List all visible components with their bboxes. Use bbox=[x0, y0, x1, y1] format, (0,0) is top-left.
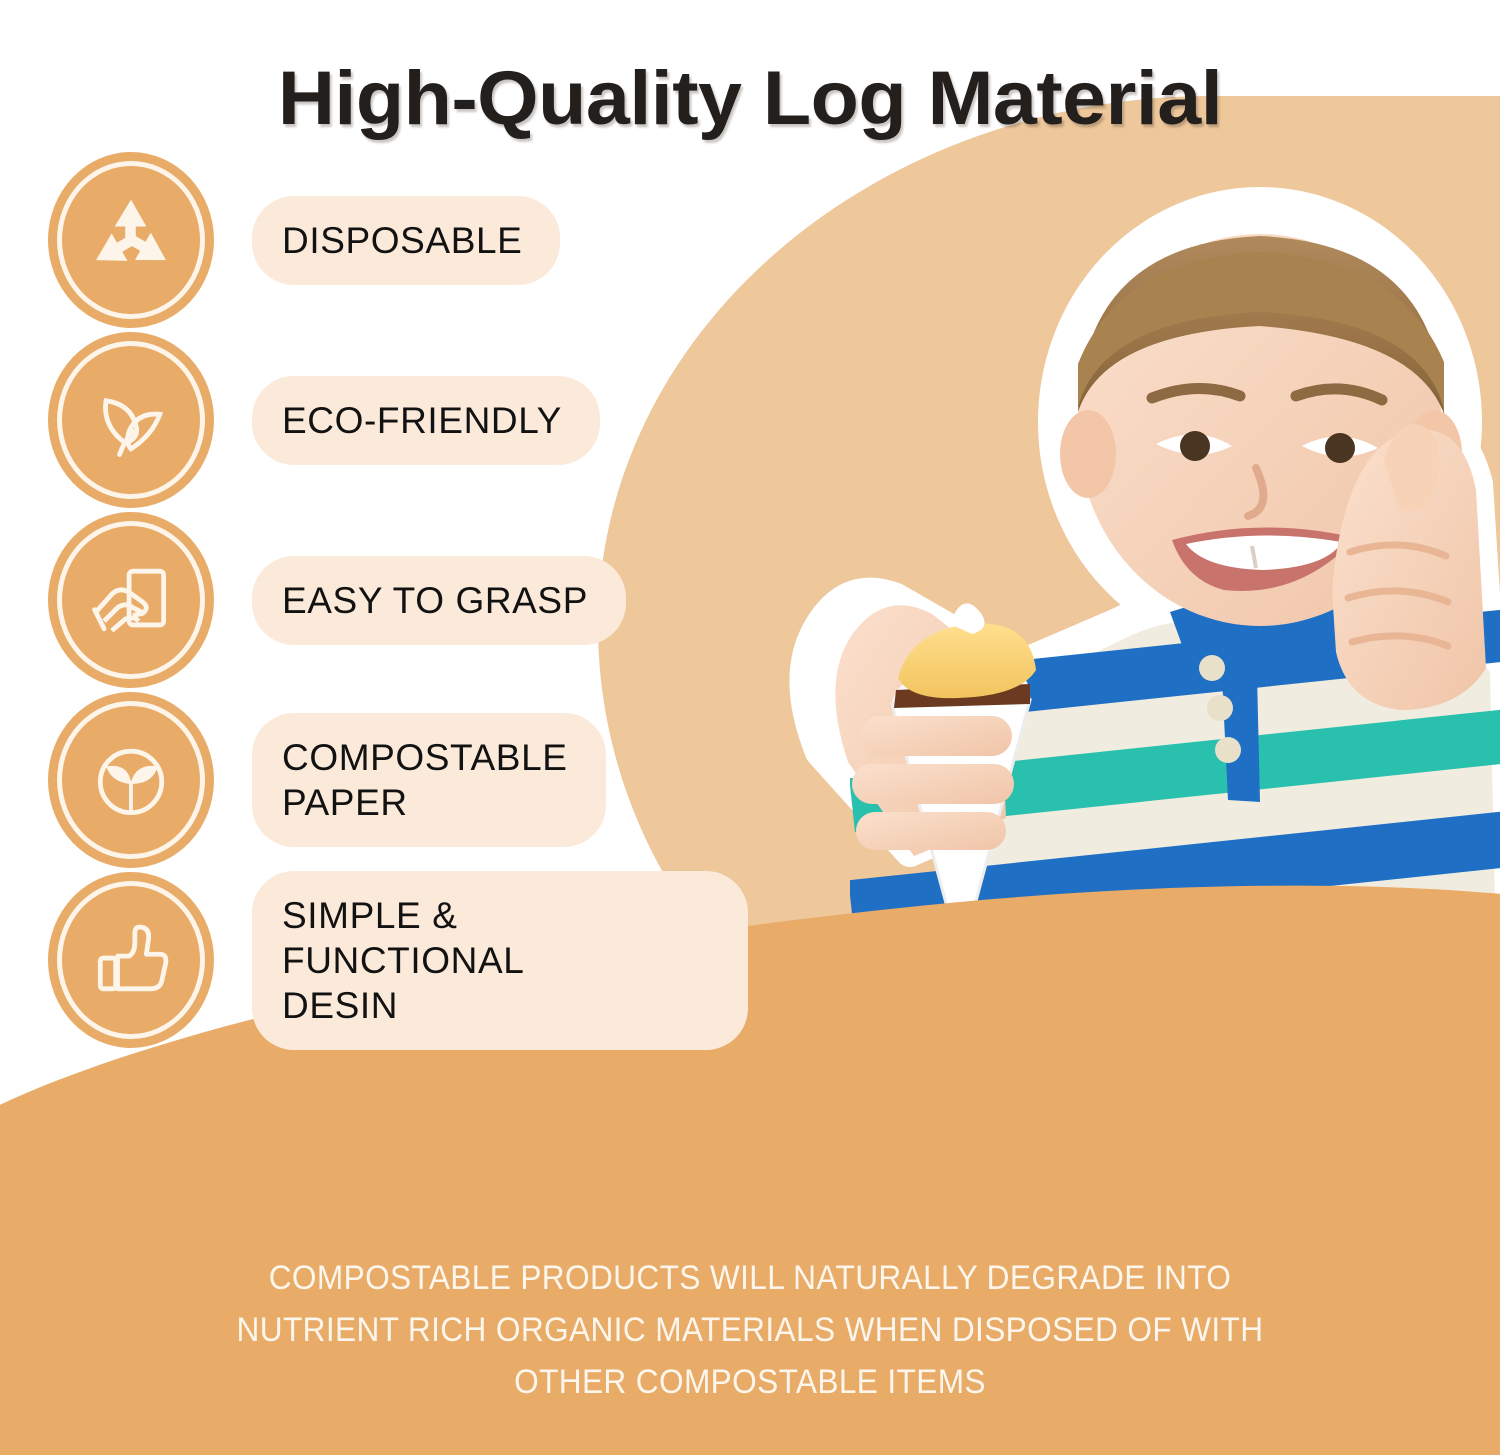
sprout-icon bbox=[83, 732, 179, 828]
feature-item-eco-friendly: ECO-FRIENDLY bbox=[48, 330, 748, 510]
feature-badge bbox=[48, 512, 214, 688]
feature-badge bbox=[48, 152, 214, 328]
feature-item-compostable-paper: COMPOSTABLE PAPER bbox=[48, 690, 748, 870]
feature-label: COMPOSTABLE PAPER bbox=[282, 735, 568, 825]
footer-line-1: COMPOSTABLE PRODUCTS WILL NATURALLY DEGR… bbox=[53, 1252, 1448, 1304]
feature-badge bbox=[48, 332, 214, 508]
feature-item-simple-functional: SIMPLE & FUNCTIONAL DESIN bbox=[48, 870, 748, 1050]
feature-label-pill: SIMPLE & FUNCTIONAL DESIN bbox=[252, 871, 748, 1050]
feature-label: EASY TO GRASP bbox=[282, 578, 588, 623]
feature-label-pill: DISPOSABLE bbox=[252, 196, 560, 285]
feature-label: SIMPLE & FUNCTIONAL DESIN bbox=[282, 893, 710, 1028]
thumbs-up-icon bbox=[83, 912, 179, 1008]
page-title: High-Quality Log Material bbox=[0, 57, 1500, 141]
feature-item-disposable: DISPOSABLE bbox=[48, 150, 748, 330]
hand-holding-cup-icon bbox=[83, 552, 179, 648]
feature-label: ECO-FRIENDLY bbox=[282, 398, 562, 443]
feature-label-pill: COMPOSTABLE PAPER bbox=[252, 713, 606, 847]
feature-badge bbox=[48, 872, 214, 1048]
recycle-icon bbox=[83, 192, 179, 288]
footer-line-2: NUTRIENT RICH ORGANIC MATERIALS WHEN DIS… bbox=[53, 1304, 1448, 1356]
feature-list: DISPOSABLE ECO-FRIENDLY bbox=[48, 150, 748, 1050]
feature-label-pill: EASY TO GRASP bbox=[252, 556, 626, 645]
footer-line-3: OTHER COMPOSTABLE ITEMS bbox=[53, 1356, 1448, 1408]
feature-badge bbox=[48, 692, 214, 868]
feature-label: DISPOSABLE bbox=[282, 218, 522, 263]
product-infographic: High-Quality Log Material DISPOSABLE bbox=[0, 0, 1500, 1455]
footer-caption: COMPOSTABLE PRODUCTS WILL NATURALLY DEGR… bbox=[53, 1252, 1448, 1408]
leaves-icon bbox=[83, 372, 179, 468]
feature-item-easy-to-grasp: EASY TO GRASP bbox=[48, 510, 748, 690]
feature-label-pill: ECO-FRIENDLY bbox=[252, 376, 600, 465]
left-hand-fingers bbox=[852, 716, 1014, 850]
